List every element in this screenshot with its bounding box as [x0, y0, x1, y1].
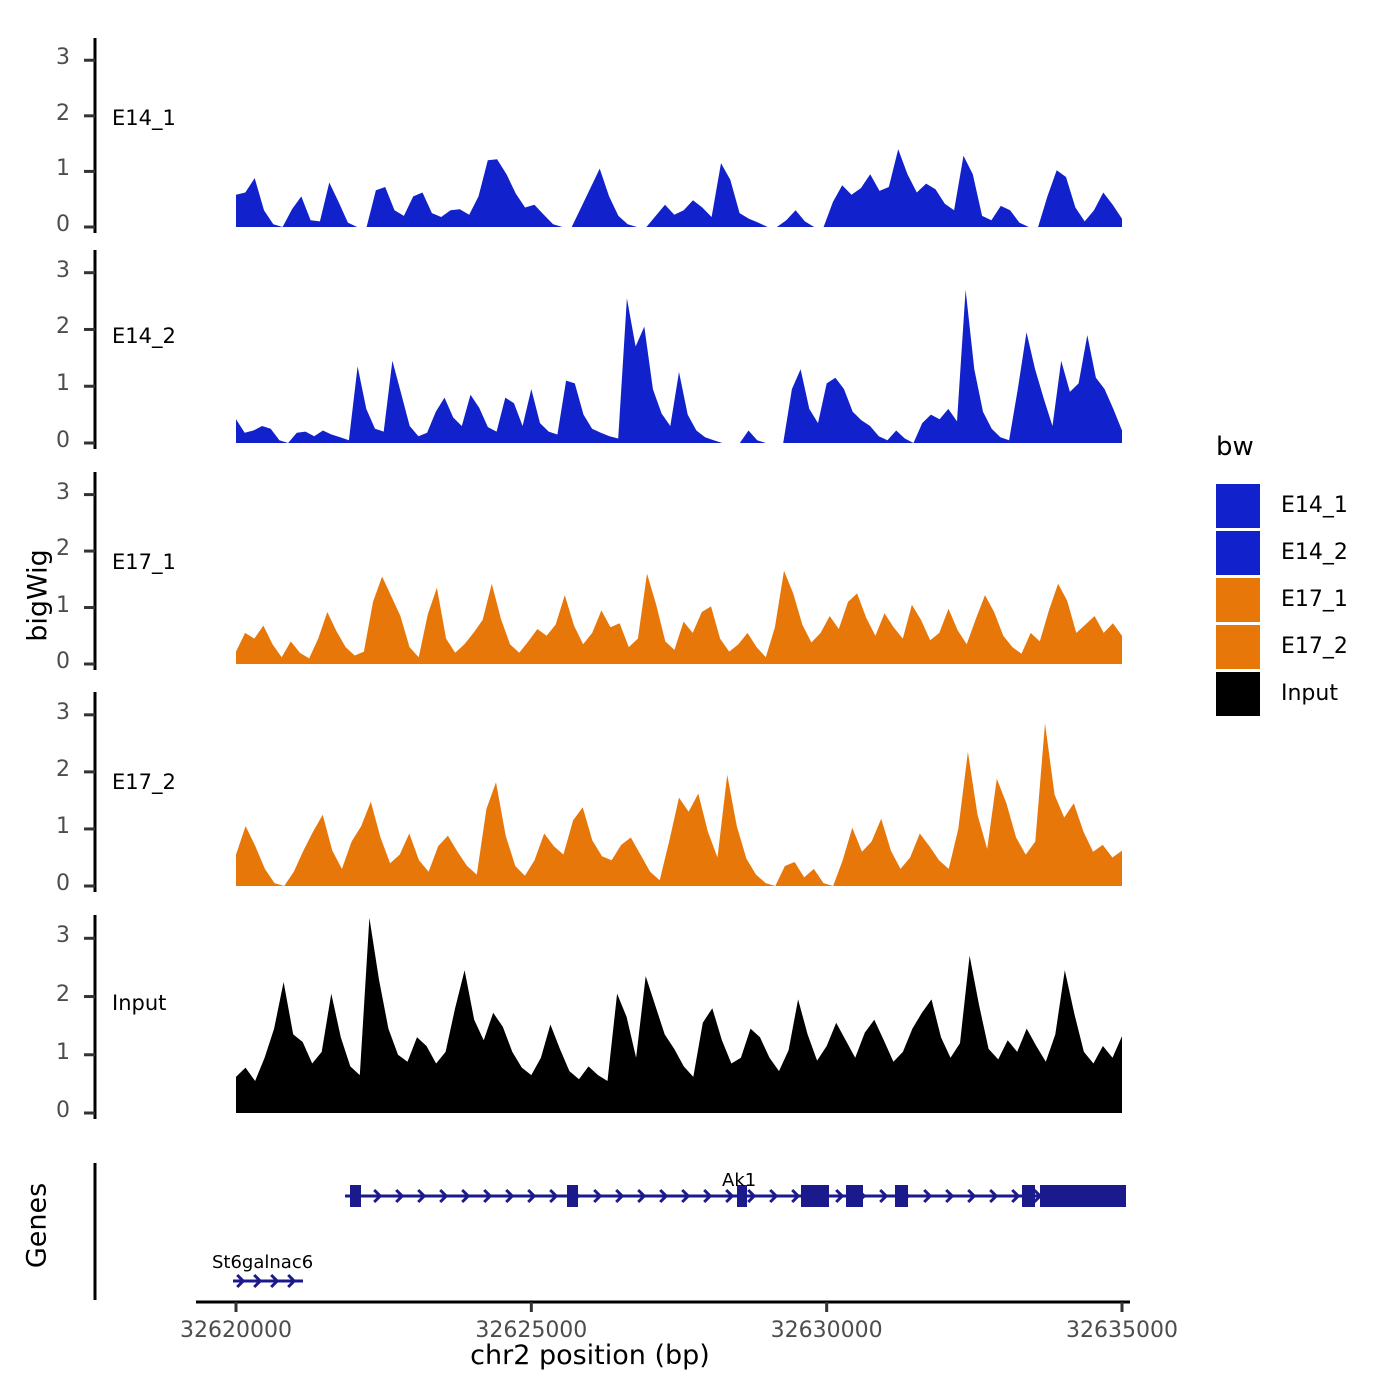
legend-key-e14-1[interactable]	[1216, 484, 1260, 528]
genome-browser-plot	[0, 0, 1400, 1400]
x-axis-title: chr2 position (bp)	[340, 1340, 840, 1371]
y-tick-label: 0	[20, 428, 70, 453]
legend-label-input: Input	[1281, 681, 1338, 706]
y-tick-label: 1	[20, 593, 70, 618]
y-tick-label: 2	[20, 536, 70, 561]
x-tick-label: 32630000	[722, 1318, 932, 1343]
y-tick-label: 1	[20, 814, 70, 839]
gene-label-ak1: Ak1	[722, 1170, 756, 1191]
y-tick-label: 2	[20, 101, 70, 126]
y-tick-label: 0	[20, 1098, 70, 1123]
track-label-e17-1: E17_1	[112, 550, 176, 574]
y-tick-label: 0	[20, 649, 70, 674]
legend-label-e17-1: E17_1	[1281, 587, 1348, 612]
legend-key-input[interactable]	[1216, 672, 1260, 716]
legend-label-e17-2: E17_2	[1281, 634, 1348, 659]
track-label-e14-1: E14_1	[112, 106, 176, 130]
y-tick-label: 3	[20, 258, 70, 283]
y-tick-label: 2	[20, 982, 70, 1007]
x-tick-label: 32625000	[426, 1318, 636, 1343]
y-tick-label: 3	[20, 45, 70, 70]
legend-title: bw	[1216, 432, 1254, 462]
legend-key-e17-1[interactable]	[1216, 578, 1260, 622]
y-tick-label: 3	[20, 700, 70, 725]
x-tick-label: 32620000	[131, 1318, 341, 1343]
legend-key-e14-2[interactable]	[1216, 531, 1260, 575]
y-tick-label: 1	[20, 371, 70, 396]
track-label-input: Input	[112, 991, 166, 1015]
x-tick-label: 32635000	[1017, 1318, 1227, 1343]
track-label-e17-2: E17_2	[112, 770, 176, 794]
gene-label-st6galnac6: St6galnac6	[212, 1252, 313, 1273]
y-tick-label: 2	[20, 314, 70, 339]
y-tick-label: 1	[20, 156, 70, 181]
y-tick-label: 1	[20, 1040, 70, 1065]
y-tick-label: 3	[20, 480, 70, 505]
y-tick-label: 3	[20, 923, 70, 948]
y-tick-label: 0	[20, 871, 70, 896]
y-tick-label: 0	[20, 212, 70, 237]
y-tick-label: 2	[20, 757, 70, 782]
legend-key-e17-2[interactable]	[1216, 625, 1260, 669]
legend-label-e14-2: E14_2	[1281, 540, 1348, 565]
track-label-e14-2: E14_2	[112, 324, 176, 348]
legend-label-e14-1: E14_1	[1281, 493, 1348, 518]
